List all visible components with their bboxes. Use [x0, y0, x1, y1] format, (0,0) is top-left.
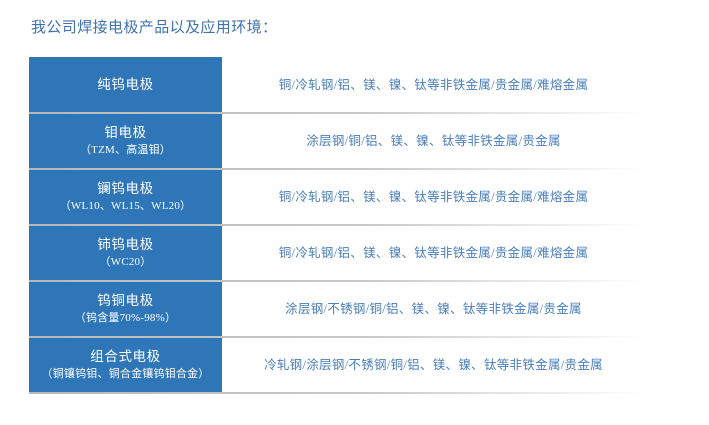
product-name-label: 组合式电极: [90, 348, 161, 366]
table-row: 镧钨电极 （WL10、WL15、WL20） 铜/冷轧钢/铝、镁、镍、钛等非铁金属…: [29, 169, 645, 225]
product-spec-label: （钨含量70%-98%）: [75, 311, 176, 326]
product-name-cell: 钨铜电极 （钨含量70%-98%）: [29, 281, 222, 337]
product-applications-cell: 冷轧钢/涂层钢/不锈钢/铜/铝、镁、镍、钛等非铁金属/贵金属: [222, 337, 645, 393]
product-applications-cell: 铜/冷轧钢/铝、镁、镍、钛等非铁金属/贵金属/难熔金属: [222, 57, 645, 113]
product-name-cell: 铈钨电极 （WC20）: [29, 225, 222, 281]
table-row: 钨铜电极 （钨含量70%-98%） 涂层钢/不锈钢/铜/铝、镁、镍、钛等非铁金属…: [29, 281, 645, 337]
product-name-label: 铈钨电极: [97, 236, 153, 254]
product-applications-cell: 涂层钢/铜/铝、镁、镍、钛等非铁金属/贵金属: [222, 113, 645, 169]
product-name-label: 镧钨电极: [97, 180, 153, 198]
product-spec-label: （铜镶钨钼、铜合金镶钨钼合金）: [42, 367, 210, 382]
product-spec-label: （TZM、高温钼）: [80, 143, 171, 158]
product-name-label: 纯钨电极: [97, 76, 153, 94]
product-name-cell: 镧钨电极 （WL10、WL15、WL20）: [29, 169, 222, 225]
product-applications-cell: 铜/冷轧钢/铝、镁、镍、钛等非铁金属/贵金属/难熔金属: [222, 225, 645, 281]
electrode-products-table: 纯钨电极 铜/冷轧钢/铝、镁、镍、钛等非铁金属/贵金属/难熔金属 钼电极 （TZ…: [29, 57, 645, 393]
product-spec-label: （WC20）: [100, 255, 152, 270]
product-applications-cell: 涂层钢/不锈钢/铜/铝、镁、镍、钛等非铁金属/贵金属: [222, 281, 645, 337]
product-name-label: 钼电极: [104, 124, 146, 142]
product-name-cell: 组合式电极 （铜镶钨钼、铜合金镶钨钼合金）: [29, 337, 222, 393]
table-row: 纯钨电极 铜/冷轧钢/铝、镁、镍、钛等非铁金属/贵金属/难熔金属: [29, 57, 645, 113]
table-row: 铈钨电极 （WC20） 铜/冷轧钢/铝、镁、镍、钛等非铁金属/贵金属/难熔金属: [29, 225, 645, 281]
product-applications-cell: 铜/冷轧钢/铝、镁、镍、钛等非铁金属/贵金属/难熔金属: [222, 169, 645, 225]
page-root: 我公司焊接电极产品以及应用环境： 纯钨电极 铜/冷轧钢/铝、镁、镍、钛等非铁金属…: [0, 0, 709, 425]
product-name-label: 钨铜电极: [97, 292, 153, 310]
page-title: 我公司焊接电极产品以及应用环境：: [31, 17, 277, 39]
table-row: 组合式电极 （铜镶钨钼、铜合金镶钨钼合金） 冷轧钢/涂层钢/不锈钢/铜/铝、镁、…: [29, 337, 645, 393]
table-row: 钼电极 （TZM、高温钼） 涂层钢/铜/铝、镁、镍、钛等非铁金属/贵金属: [29, 113, 645, 169]
product-name-cell: 钼电极 （TZM、高温钼）: [29, 113, 222, 169]
product-name-cell: 纯钨电极: [29, 57, 222, 113]
product-spec-label: （WL10、WL15、WL20）: [60, 199, 192, 214]
